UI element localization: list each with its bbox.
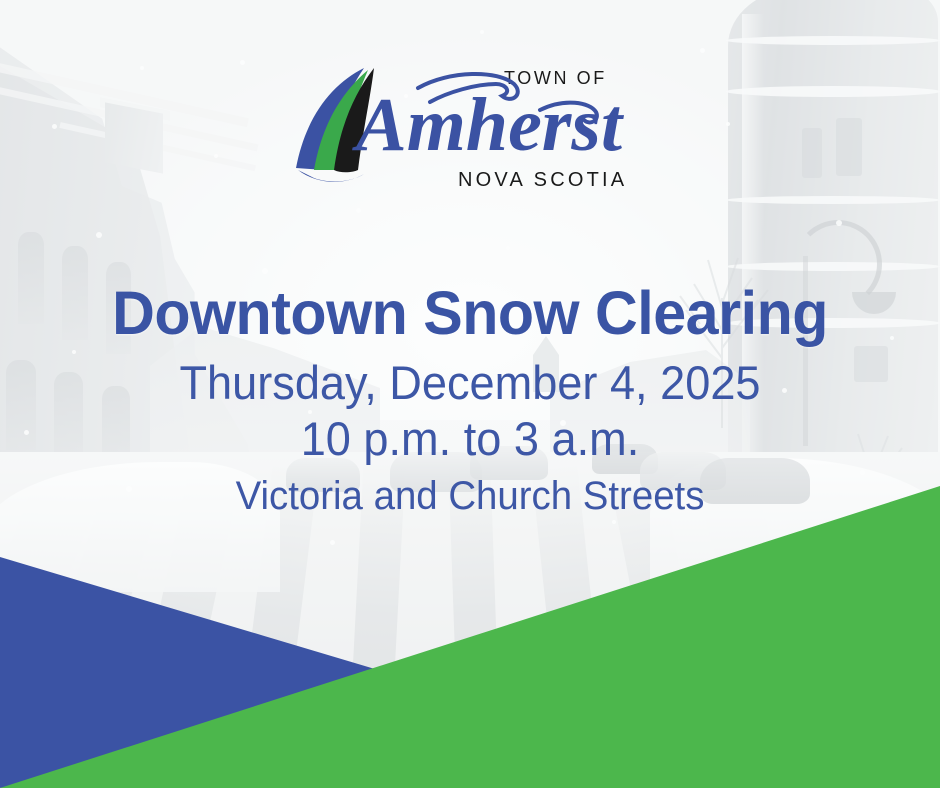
event-date: Thursday, December 4, 2025 [19,355,921,410]
announcement-text-block: Downtown Snow Clearing Thursday, Decembe… [0,282,940,520]
event-time: 10 p.m. to 3 a.m. [19,411,921,466]
tower-window [802,128,822,178]
logo-wordmark: Amherst [352,83,625,167]
tower-band [726,86,940,97]
event-location: Victoria and Church Streets [19,472,921,520]
logo-tagline: NOVA SCOTIA [458,169,627,191]
left-building-parapet [105,102,163,173]
snow-clearing-poster: TOWN OF Amherst NOVA SCOTIA TOWN OF Amhe… [0,0,940,788]
town-of-amherst-logo: TOWN OF Amherst NOVA SCOTIA [290,58,650,198]
page-title: Downtown Snow Clearing [14,282,926,345]
tower-band [726,196,940,204]
tower-window [836,118,862,176]
tower-band [726,36,940,45]
